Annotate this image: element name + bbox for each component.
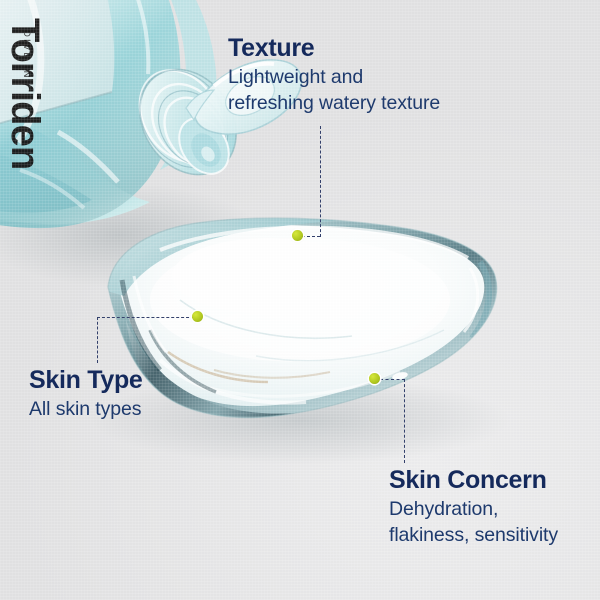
product-feature-image: DIVE IN Torriden (0, 0, 600, 600)
brand-label-text: DIVE IN Torriden (3, 18, 47, 169)
callout-skin-type: Skin Type All skin types (29, 366, 143, 423)
leader-segment-horizontal (97, 317, 194, 318)
callout-texture: Texture Lightweight and refreshing water… (228, 34, 440, 117)
callout-dot-skin-concern[interactable] (369, 373, 380, 384)
callout-body-skin-concern-line-1: Dehydration, (389, 497, 558, 523)
callout-title-texture: Texture (228, 34, 440, 62)
callout-body-skin-concern-line-2: flakiness, sensitivity (389, 523, 558, 549)
callout-title-skin-concern: Skin Concern (389, 466, 558, 494)
callout-body-texture-line-1: Lightweight and (228, 65, 440, 91)
callout-dot-texture[interactable] (292, 230, 303, 241)
callout-dot-skin-type[interactable] (192, 311, 203, 322)
callout-body-texture-line-2: refreshing watery texture (228, 91, 440, 117)
leader-segment-vertical (320, 126, 321, 237)
callout-title-skin-type: Skin Type (29, 366, 143, 394)
leader-segment-horizontal (302, 236, 320, 237)
leader-segment-vertical (97, 317, 98, 363)
leader-segment-vertical (404, 379, 405, 463)
svg-text:Torriden: Torriden (3, 18, 47, 169)
callout-skin-concern: Skin Concern Dehydration, flakiness, sen… (389, 466, 558, 549)
leader-segment-horizontal (380, 379, 405, 380)
callout-body-skin-type-line-1: All skin types (29, 397, 143, 423)
